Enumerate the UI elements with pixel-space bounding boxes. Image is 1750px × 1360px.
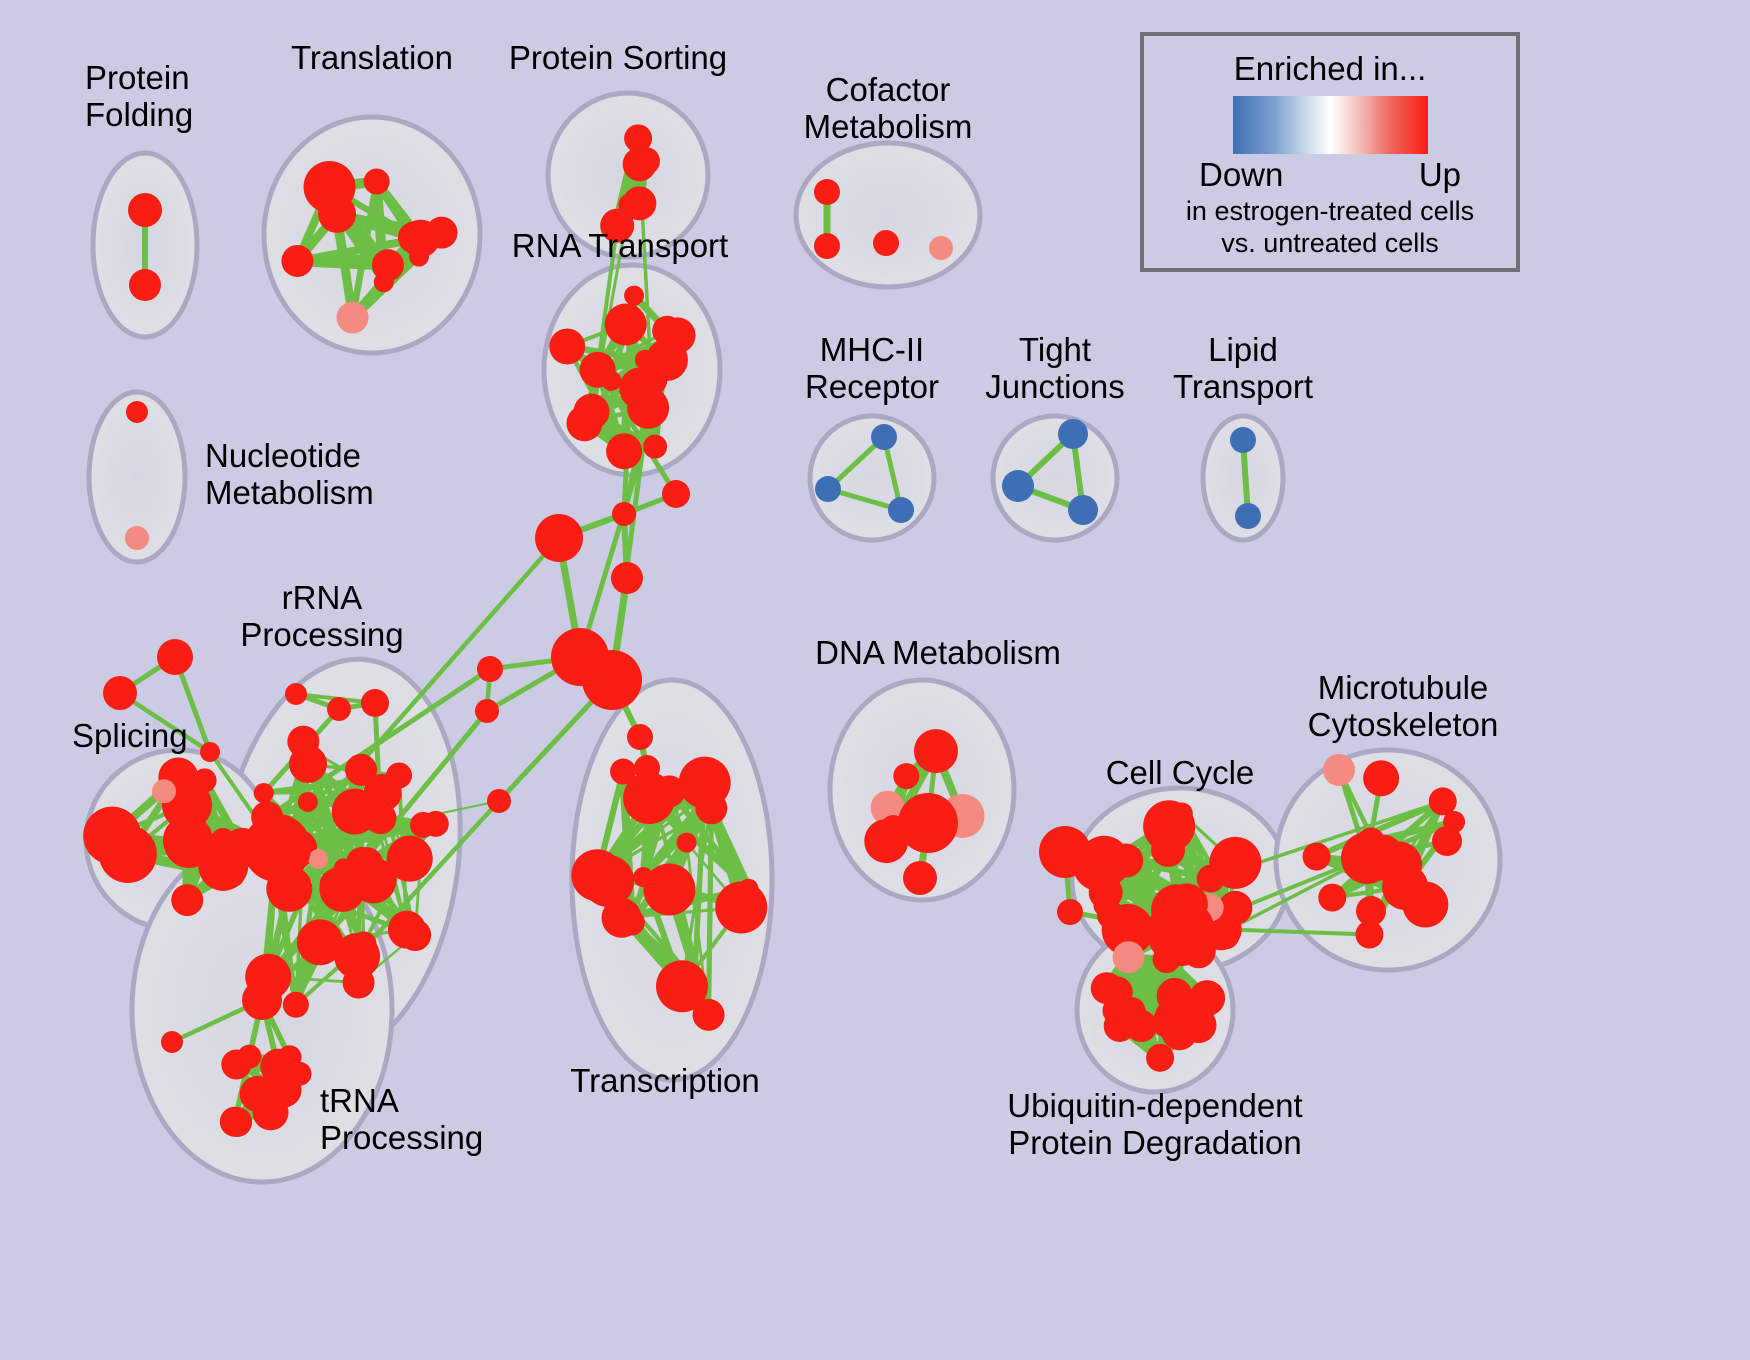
network-node <box>351 931 377 957</box>
legend-colorbar <box>1233 96 1428 154</box>
cluster-label-protein-folding: Protein Folding <box>85 60 193 134</box>
network-node <box>1230 427 1256 453</box>
legend-caption-line-2: vs. untreated cells <box>1186 228 1474 260</box>
network-node <box>399 919 431 951</box>
network-node <box>1068 495 1098 525</box>
network-node <box>1097 901 1125 929</box>
network-node <box>632 147 660 175</box>
network-node <box>1102 997 1130 1025</box>
network-node <box>535 514 583 562</box>
network-node <box>477 656 503 682</box>
network-node <box>200 742 220 762</box>
network-node <box>1211 921 1239 949</box>
cluster-label-tight-junctions: Tight Junctions <box>985 332 1124 406</box>
network-node <box>1303 843 1331 871</box>
network-node <box>606 433 642 469</box>
network-node <box>253 1094 289 1130</box>
network-node <box>1151 833 1185 867</box>
network-node <box>903 861 937 895</box>
network-node <box>888 497 914 523</box>
network-node <box>83 807 141 865</box>
network-node <box>1002 470 1034 502</box>
network-node <box>1146 1044 1174 1072</box>
network-node <box>157 639 193 675</box>
network-node <box>610 758 636 784</box>
network-node <box>327 697 351 721</box>
network-node <box>898 793 958 853</box>
network-node <box>161 1031 183 1053</box>
cluster-label-mhc-ii: MHC-II Receptor <box>805 332 939 406</box>
network-node <box>1235 503 1261 529</box>
network-node <box>611 562 643 594</box>
network-node <box>1356 896 1386 926</box>
network-node <box>601 371 621 391</box>
network-node <box>409 247 429 267</box>
network-node <box>1058 419 1088 449</box>
network-node <box>237 1045 261 1069</box>
network-node <box>1109 844 1143 878</box>
cluster-label-lipid-transport: Lipid Transport <box>1173 332 1313 406</box>
network-node <box>612 502 636 526</box>
network-node <box>814 233 840 259</box>
legend-panel: Enriched in... Down Up in estrogen-treat… <box>1140 32 1520 272</box>
network-node <box>646 786 674 814</box>
network-node <box>103 676 137 710</box>
network-node <box>1171 993 1199 1021</box>
network-node <box>646 339 688 381</box>
network-node <box>193 768 217 792</box>
network-node <box>410 812 436 838</box>
network-node <box>475 699 499 723</box>
network-node <box>703 781 723 801</box>
network-node <box>125 526 149 550</box>
network-node <box>1429 787 1457 815</box>
network-node <box>1318 884 1346 912</box>
network-node <box>643 863 695 915</box>
network-node <box>350 857 396 903</box>
network-node <box>815 476 841 502</box>
network-node <box>873 230 899 256</box>
legend-low-label: Down <box>1199 156 1283 194</box>
cluster-label-transcription: Transcription <box>570 1063 760 1100</box>
network-node <box>281 245 313 277</box>
network-node <box>487 789 511 813</box>
legend-caption-line-1: in estrogen-treated cells <box>1186 196 1474 228</box>
network-node <box>893 763 919 789</box>
network-node <box>361 689 389 717</box>
cluster-label-dna-metabolism: DNA Metabolism <box>815 635 1061 672</box>
network-node <box>1057 899 1083 925</box>
network-node <box>549 329 585 365</box>
network-node <box>582 855 634 907</box>
network-node <box>738 879 758 899</box>
cluster-label-nucleotide: Nucleotide Metabolism <box>205 438 374 512</box>
network-node <box>1039 826 1091 878</box>
network-node <box>1402 881 1448 927</box>
network-node <box>634 755 660 781</box>
network-node <box>128 193 162 227</box>
network-node <box>318 195 356 233</box>
network-node <box>152 779 176 803</box>
cluster-label-translation: Translation <box>291 40 453 77</box>
network-node <box>622 186 656 220</box>
network-node <box>242 980 282 1020</box>
network-node <box>254 783 274 803</box>
network-node <box>343 967 375 999</box>
network-node <box>929 236 953 260</box>
network-node <box>1341 832 1393 884</box>
network-node <box>298 792 318 812</box>
network-node <box>619 909 645 935</box>
network-node <box>643 435 667 459</box>
cluster-label-rna-transport: RNA Transport <box>512 228 728 265</box>
network-node <box>129 269 161 301</box>
network-node <box>308 849 328 869</box>
cluster-label-microtubule: Microtubule Cytoskeleton <box>1308 670 1499 744</box>
network-node <box>285 683 307 705</box>
network-node <box>662 480 690 508</box>
legend-title: Enriched in... <box>1234 50 1427 88</box>
cluster-label-splicing: Splicing <box>72 718 188 755</box>
network-node <box>1113 941 1145 973</box>
network-node <box>171 884 203 916</box>
cluster-label-trna-processing: tRNA Processing <box>320 1083 483 1157</box>
network-node <box>163 815 213 865</box>
network-node <box>1209 837 1261 889</box>
network-node <box>627 724 653 750</box>
network-node <box>243 814 311 882</box>
network-node <box>871 424 897 450</box>
network-node <box>364 169 390 195</box>
network-node <box>1153 945 1181 973</box>
network-node <box>332 789 378 835</box>
network-node <box>372 249 404 281</box>
network-node <box>582 650 642 710</box>
network-node <box>914 729 958 773</box>
network-node <box>296 737 316 757</box>
cluster-label-rrna-processing: rRNA Processing <box>240 580 403 654</box>
network-node <box>1323 754 1355 786</box>
network-node <box>814 179 840 205</box>
legend-caption: in estrogen-treated cells vs. untreated … <box>1186 196 1474 260</box>
network-node <box>337 302 369 334</box>
network-node <box>297 919 343 965</box>
network-node <box>566 405 602 441</box>
network-node <box>283 992 309 1018</box>
cluster-label-protein-sorting: Protein Sorting <box>509 40 727 77</box>
network-node <box>1432 826 1462 856</box>
cluster-label-cell-cycle: Cell Cycle <box>1106 755 1255 792</box>
cluster-label-ubiquitin: Ubiquitin-dependent Protein Degradation <box>1007 1088 1302 1162</box>
network-node <box>624 286 644 306</box>
enrichment-network-figure: Protein FoldingTranslationProtein Sortin… <box>0 0 1750 1360</box>
network-node <box>222 1107 252 1137</box>
network-node <box>685 970 705 990</box>
network-node <box>605 303 647 345</box>
network-node <box>1363 760 1399 796</box>
network-node <box>126 401 148 423</box>
cluster-label-cofactor: Cofactor Metabolism <box>804 72 973 146</box>
network-node <box>677 833 697 853</box>
legend-endpoints: Down Up <box>1199 156 1461 194</box>
legend-high-label: Up <box>1419 156 1461 194</box>
